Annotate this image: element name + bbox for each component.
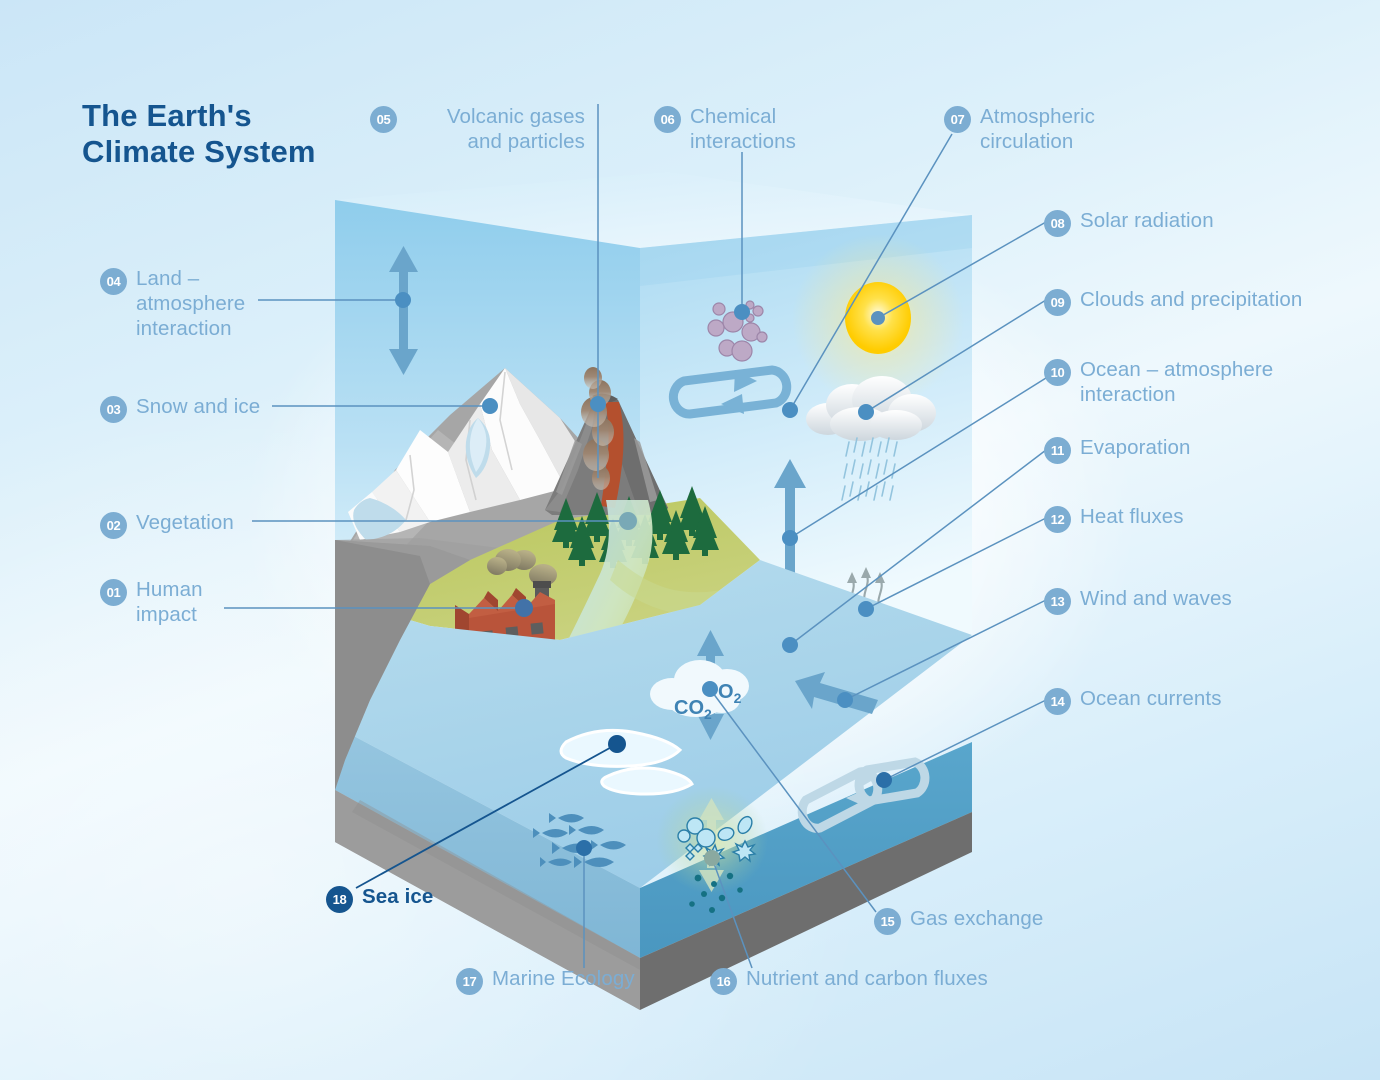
label-atmospheric-circulation[interactable]: 07 Atmospheric circulation <box>944 104 1164 154</box>
label-chemical-interactions[interactable]: 06 Chemical interactions <box>654 104 844 154</box>
label-ocean-atmosphere-interaction[interactable]: 10 Ocean – atmosphere interaction <box>1044 357 1304 407</box>
label-text-ocean-currents: Ocean currents <box>1080 686 1222 711</box>
label-clouds-and-precipitation[interactable]: 09 Clouds and precipitation <box>1044 287 1344 316</box>
badge-16: 16 <box>710 968 737 995</box>
badge-14: 14 <box>1044 688 1071 715</box>
label-text-nutrient-and-carbon-fluxes: Nutrient and carbon fluxes <box>746 966 988 991</box>
label-text-land-atmosphere-interaction: Land – atmosphere interaction <box>136 266 245 341</box>
label-wind-and-waves[interactable]: 13 Wind and waves <box>1044 586 1294 615</box>
label-marine-ecology[interactable]: 17 Marine Ecology <box>456 966 676 995</box>
label-sea-ice[interactable]: 18 Sea ice <box>326 884 506 913</box>
badge-18: 18 <box>326 886 353 913</box>
label-text-solar-radiation: Solar radiation <box>1080 208 1214 233</box>
label-text-sea-ice: Sea ice <box>362 884 433 909</box>
label-evaporation[interactable]: 11 Evaporation <box>1044 435 1274 464</box>
leader-18 <box>356 744 617 888</box>
label-text-snow-and-ice: Snow and ice <box>136 394 260 419</box>
label-text-vegetation: Vegetation <box>136 510 234 535</box>
badge-05: 05 <box>370 106 397 133</box>
badge-12: 12 <box>1044 506 1071 533</box>
badge-06: 06 <box>654 106 681 133</box>
label-text-clouds-and-precipitation: Clouds and precipitation <box>1080 287 1302 312</box>
badge-02: 02 <box>100 512 127 539</box>
badge-15: 15 <box>874 908 901 935</box>
badge-10: 10 <box>1044 359 1071 386</box>
badge-08: 08 <box>1044 210 1071 237</box>
label-text-human-impact: Human impact <box>136 577 203 627</box>
badge-03: 03 <box>100 396 127 423</box>
badge-04: 04 <box>100 268 127 295</box>
badge-17: 17 <box>456 968 483 995</box>
label-vegetation[interactable]: 02 Vegetation <box>100 510 320 539</box>
label-snow-and-ice[interactable]: 03 Snow and ice <box>100 394 330 423</box>
label-nutrient-and-carbon-fluxes[interactable]: 16 Nutrient and carbon fluxes <box>710 966 1010 995</box>
badge-09: 09 <box>1044 289 1071 316</box>
badge-13: 13 <box>1044 588 1071 615</box>
label-text-wind-and-waves: Wind and waves <box>1080 586 1232 611</box>
label-text-marine-ecology: Marine Ecology <box>492 966 635 991</box>
label-land-atmosphere-interaction[interactable]: 04 Land – atmosphere interaction <box>100 266 320 341</box>
label-text-chemical-interactions: Chemical interactions <box>690 104 796 154</box>
label-text-volcanic-gases-and-particles: Volcanic gases and particles <box>406 104 585 154</box>
label-text-heat-fluxes: Heat fluxes <box>1080 504 1184 529</box>
badge-07: 07 <box>944 106 971 133</box>
label-human-impact[interactable]: 01 Human impact <box>100 577 300 627</box>
label-text-atmospheric-circulation: Atmospheric circulation <box>980 104 1095 154</box>
label-text-evaporation: Evaporation <box>1080 435 1191 460</box>
label-volcanic-gases-and-particles[interactable]: 05 Volcanic gases and particles <box>370 104 585 154</box>
anchor-dots <box>395 292 892 866</box>
page-title: The Earth's Climate System <box>82 98 316 170</box>
label-solar-radiation[interactable]: 08 Solar radiation <box>1044 208 1294 237</box>
label-text-ocean-atmosphere-interaction: Ocean – atmosphere interaction <box>1080 357 1273 407</box>
label-text-gas-exchange: Gas exchange <box>910 906 1043 931</box>
label-gas-exchange[interactable]: 15 Gas exchange <box>874 906 1104 935</box>
badge-11: 11 <box>1044 437 1071 464</box>
badge-01: 01 <box>100 579 127 606</box>
label-ocean-currents[interactable]: 14 Ocean currents <box>1044 686 1294 715</box>
label-heat-fluxes[interactable]: 12 Heat fluxes <box>1044 504 1274 533</box>
